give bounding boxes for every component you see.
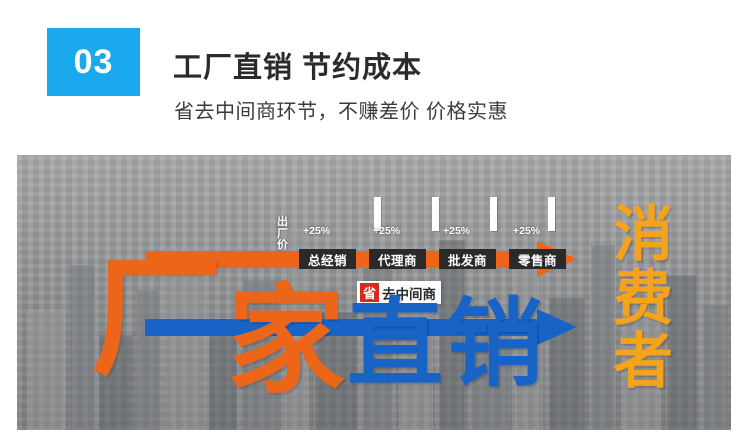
chain-tick <box>548 197 555 231</box>
chain-box-2: 批发商 <box>439 249 496 269</box>
chain-tick <box>490 197 497 231</box>
page-title: 工厂直销 节约成本 <box>173 44 422 86</box>
consumer-char: 消费者 <box>605 203 681 394</box>
banner-illustration: +25% +25% +25% +25% 总经销 代理商 批发商 零售商 出厂价 … <box>17 155 731 430</box>
direct-sale-char: 直销 <box>347 297 547 393</box>
chain-markup-2: +25% <box>443 225 470 237</box>
chain-markup-3: +25% <box>513 225 540 237</box>
factory-char: 厂 <box>91 253 223 385</box>
skyline-building <box>27 310 65 430</box>
chain-markup-1: +25% <box>373 225 400 237</box>
section-number-badge: 03 <box>47 28 140 96</box>
chain-markup-0: +25% <box>303 225 330 237</box>
chain-box-3: 零售商 <box>509 249 566 269</box>
page-subtitle: 省去中间商环节，不赚差价 价格实惠 <box>174 95 508 124</box>
chain-tick <box>432 197 439 231</box>
chain-box-1: 代理商 <box>369 249 426 269</box>
ex-factory-price-label: 出厂价 <box>275 217 290 252</box>
jia-char: 家 <box>227 283 345 401</box>
section-number: 03 <box>74 45 114 79</box>
chain-box-0: 总经销 <box>299 249 356 269</box>
skyline-building <box>703 305 729 430</box>
header-section: 03 工厂直销 节约成本 省去中间商环节，不赚差价 价格实惠 <box>0 0 748 152</box>
